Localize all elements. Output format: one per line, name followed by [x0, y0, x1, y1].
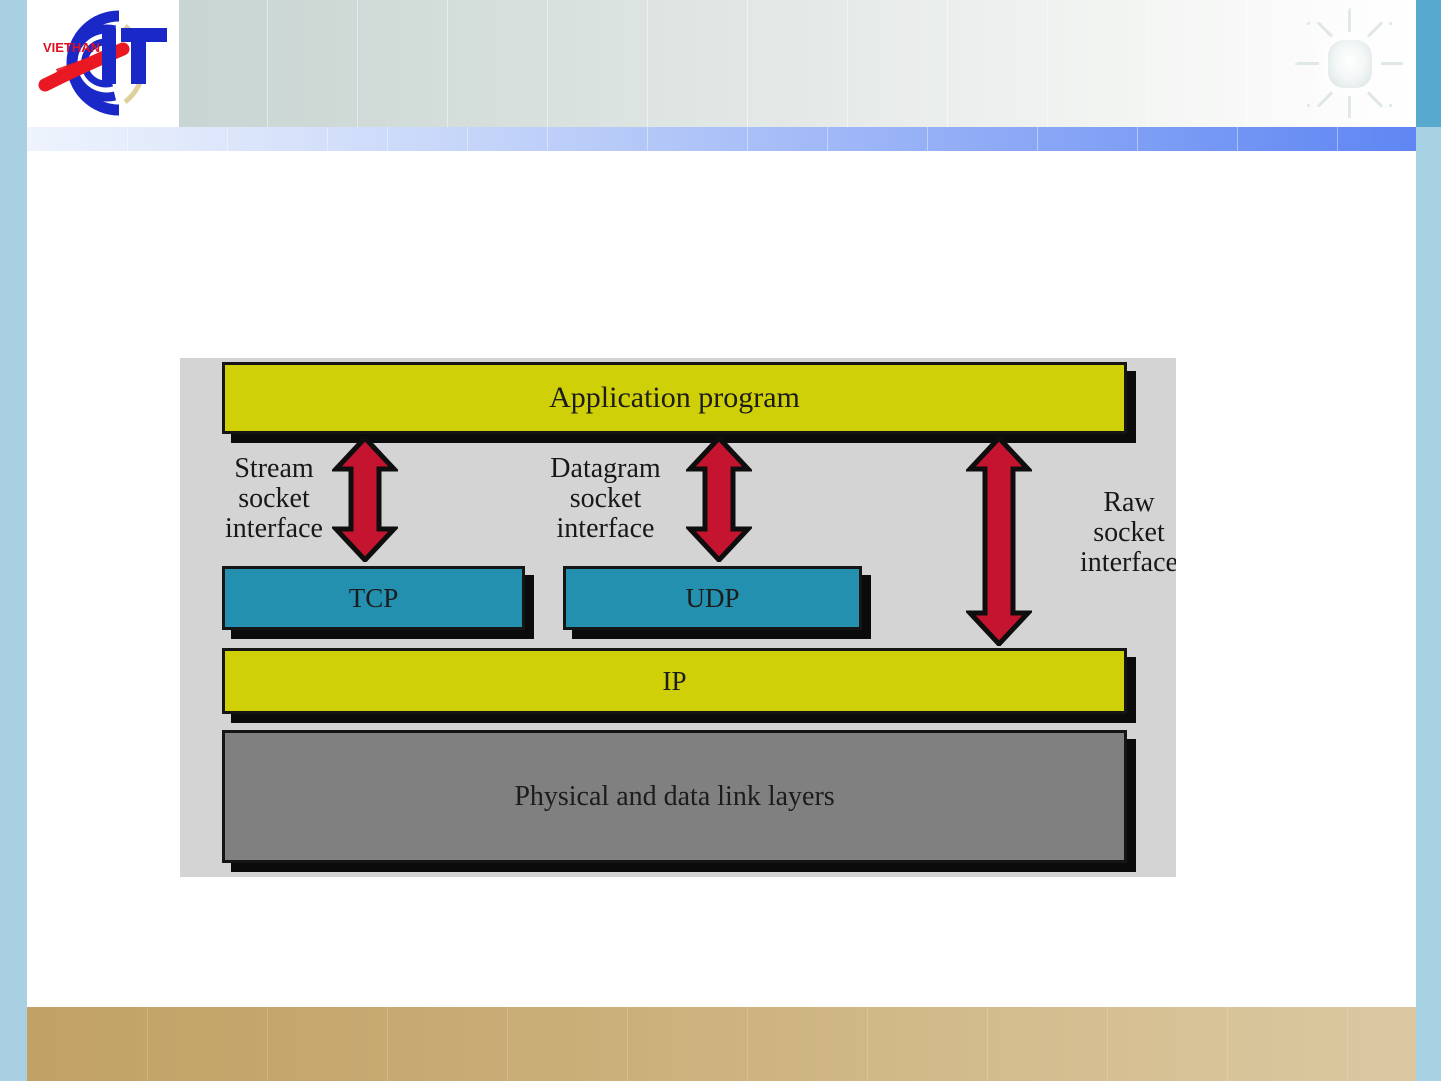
slide-canvas: VIETHAN Application program TCP UDP IP P…: [0, 0, 1441, 1081]
right-accent-bar-bottom: [1416, 127, 1441, 1081]
logo: VIETHAN: [27, 0, 179, 127]
node-physical-data-link-layers: Physical and data link layers: [222, 730, 1127, 863]
node-tcp-label: TCP: [349, 584, 399, 612]
node-udp-label: UDP: [685, 584, 739, 612]
footer-band: [27, 1007, 1416, 1081]
stream-socket-interface-line2: socket: [180, 484, 374, 514]
node-application-program: Application program: [222, 362, 1127, 434]
raw-socket-interface-label: Raw socket interface: [1034, 488, 1176, 579]
viethan-it-logo-icon: VIETHAN: [27, 0, 179, 127]
datagram-socket-interface-line2: socket: [498, 484, 713, 514]
raw-socket-interface-line1: Raw: [1034, 488, 1176, 518]
node-application-program-label: Application program: [549, 382, 800, 414]
node-udp: UDP: [563, 566, 862, 630]
datagram-socket-interface-line1: Datagram: [498, 454, 713, 484]
header-accent-stripe: [27, 127, 1416, 151]
header-band: [27, 0, 1416, 127]
stream-socket-interface-line3: interface: [180, 514, 374, 544]
starburst-watermark-icon: [1295, 8, 1405, 120]
socket-interface-diagram: Application program TCP UDP IP Physical …: [180, 358, 1176, 877]
svg-text:VIETHAN: VIETHAN: [43, 40, 100, 55]
stream-socket-interface-line1: Stream: [180, 454, 374, 484]
right-accent-bar-top: [1416, 0, 1441, 127]
raw-socket-interface-line2: socket: [1034, 518, 1176, 548]
left-accent-bar: [0, 0, 27, 1081]
node-ip: IP: [222, 648, 1127, 714]
stream-socket-interface-label: Stream socket interface: [180, 454, 374, 545]
node-ip-label: IP: [662, 667, 686, 695]
raw-socket-arrow-icon: [966, 436, 1032, 646]
raw-socket-interface-line3: interface: [1034, 548, 1176, 578]
datagram-socket-interface-line3: interface: [498, 514, 713, 544]
datagram-socket-interface-label: Datagram socket interface: [498, 454, 713, 545]
node-physical-data-link-layers-label: Physical and data link layers: [514, 782, 834, 811]
node-tcp: TCP: [222, 566, 525, 630]
